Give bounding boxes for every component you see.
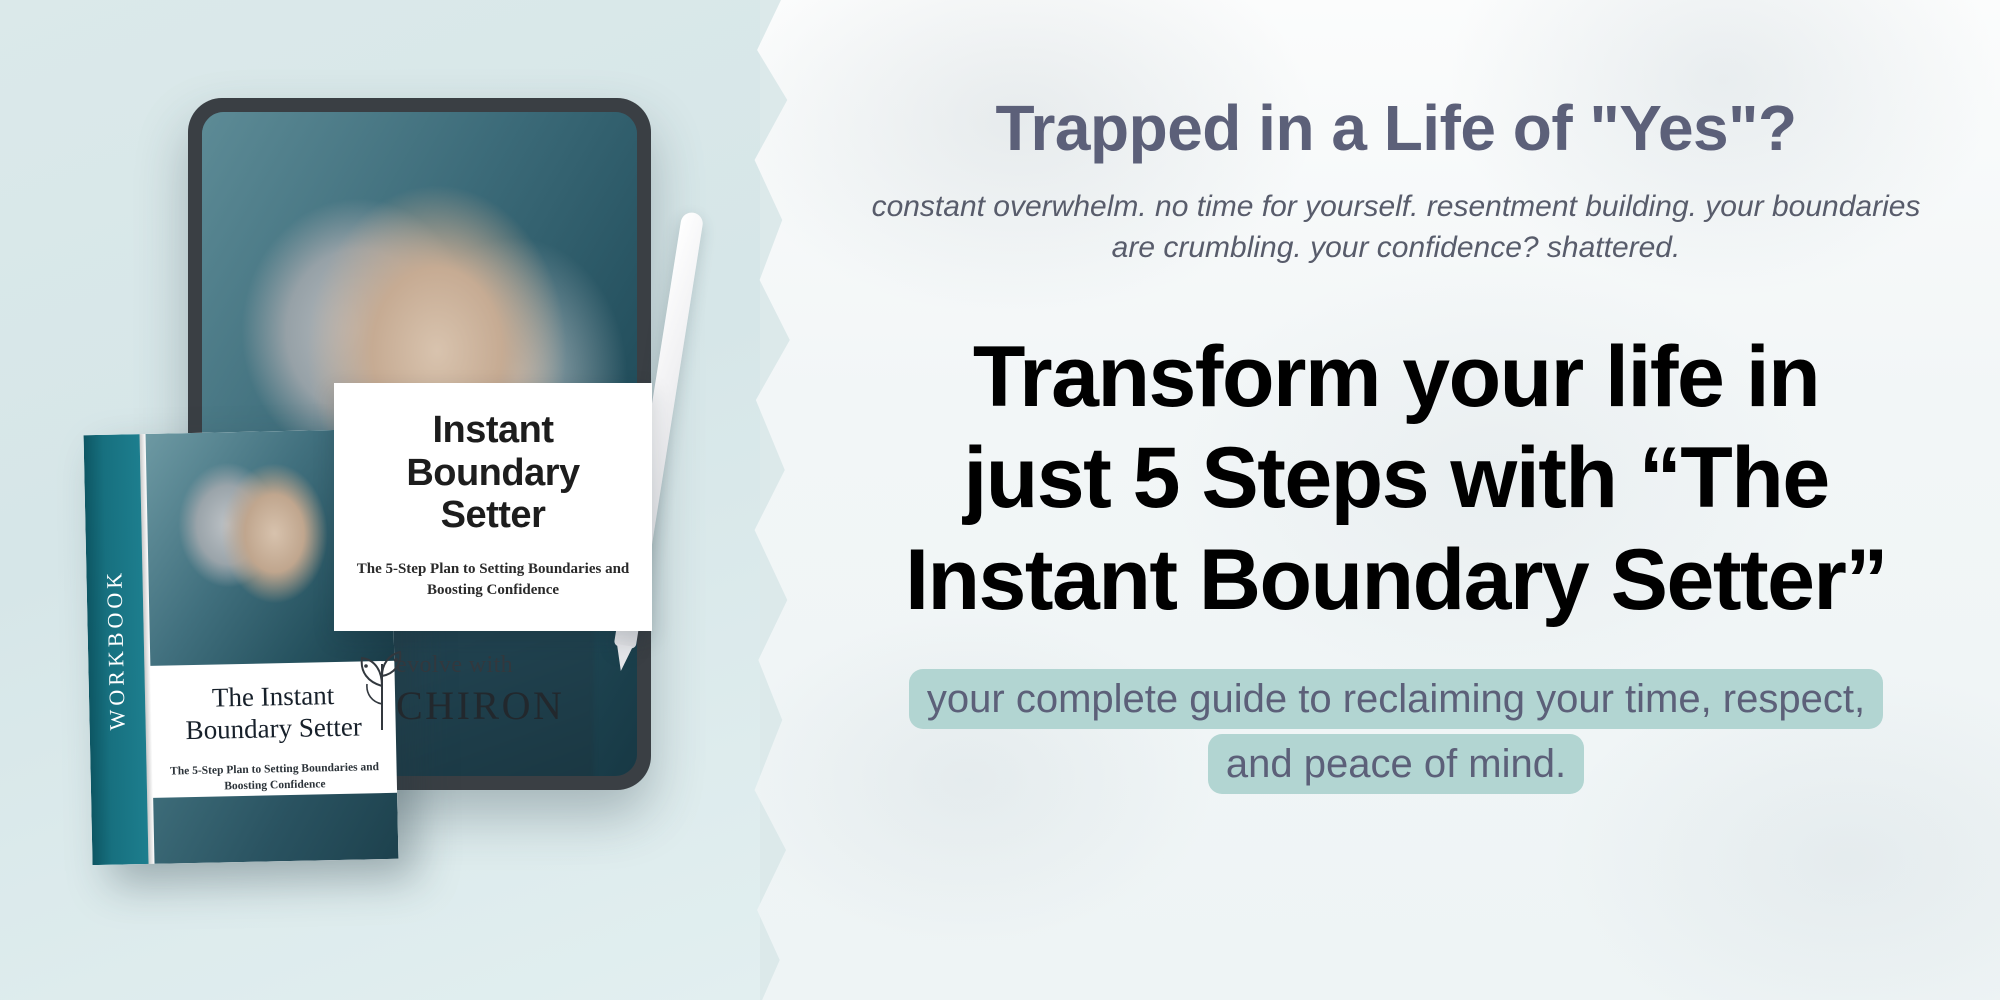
tablet-cover-title-line2: Boundary Setter xyxy=(406,452,579,537)
book-spine: WORKBOOK xyxy=(84,434,149,865)
logo-tagline: evolve with xyxy=(396,652,513,679)
book-spine-label: WORKBOOK xyxy=(101,569,130,731)
main-headline-line-3: Instant Boundary Setter” xyxy=(905,530,1887,631)
main-headline: Transform your life in just 5 Steps with… xyxy=(905,327,1887,631)
torn-paper-panel: Trapped in a Life of "Yes"? constant ove… xyxy=(742,0,2000,1000)
marketing-banner: Instant Boundary Setter The 5-Step Plan … xyxy=(0,0,2000,1000)
cta-highlight-block: your complete guide to reclaiming your t… xyxy=(886,667,1906,797)
main-headline-line-2: just 5 Steps with “The xyxy=(905,428,1887,529)
tablet-cover-title-line1: Instant xyxy=(432,409,553,451)
main-headline-line-1: Transform your life in xyxy=(905,327,1887,428)
book-subtitle-line2: Boosting Confidence xyxy=(224,779,326,793)
eyebrow-headline: Trapped in a Life of "Yes"? xyxy=(995,96,1796,160)
tablet-cover-subtitle-line1: The 5-Step Plan to Setting Boundaries an… xyxy=(357,561,630,577)
cta-text: your complete guide to reclaiming your t… xyxy=(909,669,1883,794)
book-lower-photo-band xyxy=(153,793,398,864)
book-subtitle-line1: The 5-Step Plan to Setting Boundaries an… xyxy=(170,761,379,777)
book-title-line2: Boundary Setter xyxy=(185,711,362,745)
product-mockup-panel: Instant Boundary Setter The 5-Step Plan … xyxy=(0,0,760,1000)
logo-wordmark: CHIRON xyxy=(396,682,564,729)
eyebrow-subtitle: constant overwhelm. no time for yourself… xyxy=(851,186,1941,269)
copy-content: Trapped in a Life of "Yes"? constant ove… xyxy=(826,0,1966,1000)
tablet-cover-subtitle-line2: Boosting Confidence xyxy=(427,582,559,598)
book-title-line1: The Instant xyxy=(212,680,335,713)
tablet-cover-card: Instant Boundary Setter The 5-Step Plan … xyxy=(334,383,652,631)
brand-logo: evolve with CHIRON xyxy=(352,644,564,740)
